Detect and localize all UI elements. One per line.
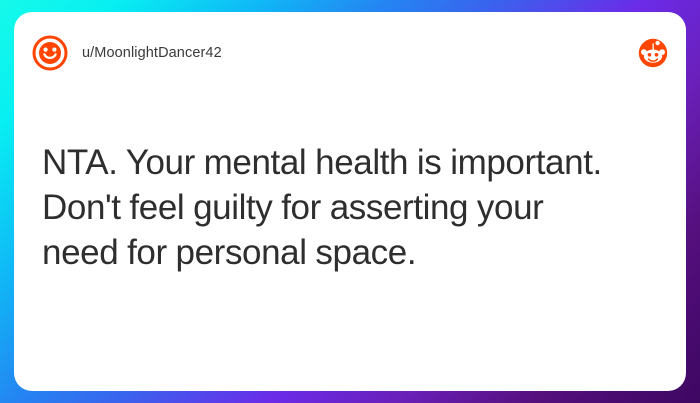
- quote-line: need for personal space.: [42, 230, 658, 275]
- quote-line: Don't feel guilty for asserting your: [42, 185, 658, 230]
- reddit-snoo-icon[interactable]: [638, 38, 668, 68]
- gradient-frame: u/MoonlightDancer42: [0, 0, 700, 403]
- smiley-face-avatar-icon: [32, 35, 68, 71]
- username-label: u/MoonlightDancer42: [82, 45, 222, 61]
- quote-text: NTA. Your mental health is important. Do…: [42, 140, 658, 275]
- quote-line: NTA. Your mental health is important.: [42, 140, 658, 185]
- quote-card: u/MoonlightDancer42: [14, 12, 686, 391]
- card-header: u/MoonlightDancer42: [32, 30, 668, 76]
